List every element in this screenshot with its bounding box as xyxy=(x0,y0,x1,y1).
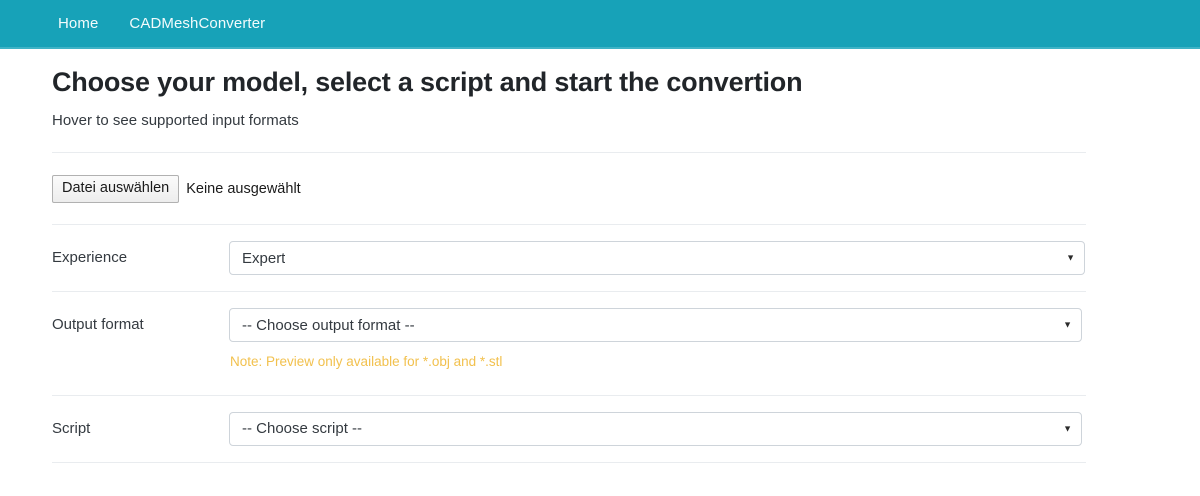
file-input-row: Datei auswählen Keine ausgewählt xyxy=(52,153,1086,224)
experience-select-value: Expert xyxy=(242,250,285,267)
chevron-down-icon: ▼ xyxy=(1066,254,1075,263)
script-field-col: -- Choose script -- ▼ xyxy=(229,412,1086,446)
page-content: Choose your model, select a script and s… xyxy=(0,49,1200,463)
navbar: Home CADMeshConverter xyxy=(0,0,1200,49)
experience-label: Experience xyxy=(52,241,229,275)
output-format-select-value: -- Choose output format -- xyxy=(242,317,415,334)
script-select[interactable]: -- Choose script -- ▼ xyxy=(229,412,1082,446)
chevron-down-icon: ▼ xyxy=(1063,424,1072,433)
nav-link-home[interactable]: Home xyxy=(58,16,98,31)
spacer xyxy=(52,371,1086,395)
experience-row: Experience Expert ▼ xyxy=(52,225,1086,291)
experience-select[interactable]: Expert ▼ xyxy=(229,241,1085,275)
experience-field-col: Expert ▼ xyxy=(229,241,1086,275)
choose-file-button[interactable]: Datei auswählen xyxy=(52,175,179,203)
script-select-value: -- Choose script -- xyxy=(242,420,362,437)
page-title: Choose your model, select a script and s… xyxy=(52,49,1086,100)
file-status-label: Keine ausgewählt xyxy=(186,181,300,197)
spacer xyxy=(52,130,1086,152)
output-format-row: Output format -- Choose output format --… xyxy=(52,292,1086,371)
output-format-label: Output format xyxy=(52,308,229,342)
script-row: Script -- Choose script -- ▼ xyxy=(52,396,1086,462)
output-format-field-col: -- Choose output format -- ▼ Note: Previ… xyxy=(229,308,1086,371)
output-format-note: Note: Preview only available for *.obj a… xyxy=(229,342,1086,371)
page-subtitle: Hover to see supported input formats xyxy=(52,100,1086,131)
chevron-down-icon: ▼ xyxy=(1063,321,1072,330)
divider-bottom xyxy=(52,462,1086,463)
script-label: Script xyxy=(52,412,229,446)
content-container: Choose your model, select a script and s… xyxy=(52,49,1086,463)
nav-link-cadmeshconverter[interactable]: CADMeshConverter xyxy=(129,16,265,31)
output-format-select[interactable]: -- Choose output format -- ▼ xyxy=(229,308,1082,342)
